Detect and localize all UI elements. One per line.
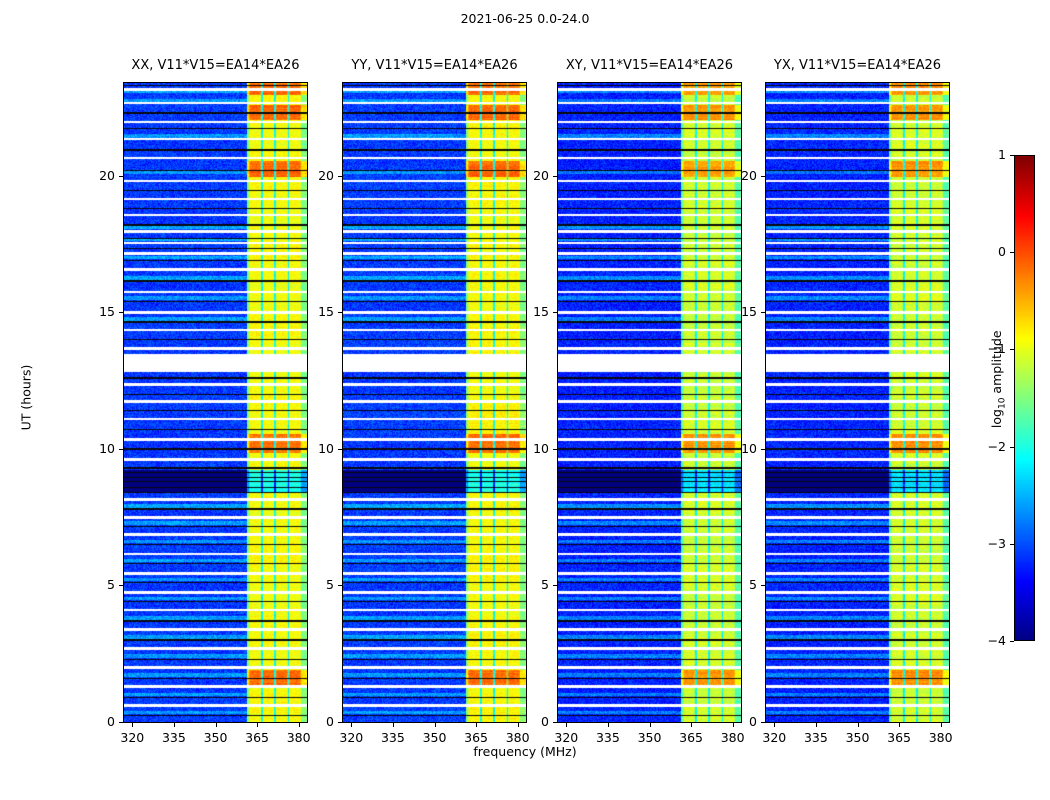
colorbar-label-text: log10 amplitude [989, 330, 1004, 428]
x-tickmark [691, 723, 692, 727]
x-tickmark [608, 723, 609, 727]
y-tickmark [761, 585, 765, 586]
y-tick-label: 15 [511, 304, 549, 319]
x-tickmark [650, 723, 651, 727]
y-tick-label: 0 [511, 714, 549, 729]
x-tickmark [174, 723, 175, 727]
x-tickmark [899, 723, 900, 727]
colorbar-tickmark [1010, 155, 1014, 156]
y-tick-label: 5 [77, 577, 115, 592]
colorbar-tickmark [1010, 252, 1014, 253]
waterfall-image-xx [124, 83, 307, 722]
y-tick-label: 0 [719, 714, 757, 729]
x-tick-label: 380 [916, 730, 966, 745]
y-tickmark [338, 585, 342, 586]
x-tickmark [476, 723, 477, 727]
y-tick-label: 10 [719, 441, 757, 456]
y-tick-label: 0 [77, 714, 115, 729]
y-tickmark [553, 312, 557, 313]
y-tickmark [553, 449, 557, 450]
y-tick-label: 10 [77, 441, 115, 456]
y-tick-label: 20 [77, 168, 115, 183]
spectrogram-panel-xy [557, 82, 742, 723]
x-tickmark [216, 723, 217, 727]
x-tickmark [774, 723, 775, 727]
x-tick-label: 380 [493, 730, 543, 745]
y-tick-label: 15 [719, 304, 757, 319]
figure-suptitle: 2021-06-25 0.0-24.0 [0, 11, 1050, 26]
panel-title-xx: XX, V11*V15=EA14*EA26 [93, 58, 338, 73]
spectrogram-panel-yy [342, 82, 527, 723]
y-tickmark [119, 176, 123, 177]
y-tickmark [338, 722, 342, 723]
panel-title-yx: YX, V11*V15=EA14*EA26 [735, 58, 980, 73]
spectrogram-panel-yx [765, 82, 950, 723]
y-tick-label: 0 [296, 714, 334, 729]
panel-title-yy: YY, V11*V15=EA14*EA26 [312, 58, 557, 73]
y-tickmark [119, 585, 123, 586]
x-tickmark [858, 723, 859, 727]
y-tickmark [553, 176, 557, 177]
x-tickmark [941, 723, 942, 727]
colorbar-tickmark [1010, 349, 1014, 350]
colorbar-label: log10 amplitude [989, 309, 1008, 449]
y-tick-label: 5 [719, 577, 757, 592]
colorbar-gradient [1015, 156, 1035, 641]
y-tick-label: 20 [296, 168, 334, 183]
colorbar-tick-label: 1 [966, 147, 1006, 162]
y-tickmark [338, 312, 342, 313]
y-tickmark [553, 722, 557, 723]
colorbar-tick-label: −3 [966, 536, 1006, 551]
x-axis-label: frequency (MHz) [0, 744, 1050, 759]
colorbar [1014, 155, 1035, 641]
x-tickmark [393, 723, 394, 727]
y-axis-label: UT (hours) [19, 328, 34, 468]
y-tick-label: 20 [719, 168, 757, 183]
y-tickmark [553, 585, 557, 586]
waterfall-image-yx [766, 83, 949, 722]
waterfall-image-xy [558, 83, 741, 722]
y-tick-label: 15 [296, 304, 334, 319]
x-tickmark [566, 723, 567, 727]
y-tick-label: 5 [511, 577, 549, 592]
y-tick-label: 20 [511, 168, 549, 183]
y-tickmark [119, 722, 123, 723]
colorbar-tick-label: −4 [966, 633, 1006, 648]
y-tickmark [338, 176, 342, 177]
x-tickmark [351, 723, 352, 727]
y-tickmark [761, 449, 765, 450]
x-tickmark [816, 723, 817, 727]
y-tickmark [761, 176, 765, 177]
y-tick-label: 10 [511, 441, 549, 456]
y-tick-label: 15 [77, 304, 115, 319]
colorbar-tickmark [1010, 447, 1014, 448]
waterfall-image-yy [343, 83, 526, 722]
y-tickmark [119, 312, 123, 313]
y-tickmark [338, 449, 342, 450]
y-tick-label: 5 [296, 577, 334, 592]
y-tickmark [761, 312, 765, 313]
y-tickmark [119, 449, 123, 450]
y-tickmark [761, 722, 765, 723]
x-tickmark [435, 723, 436, 727]
colorbar-tickmark [1010, 641, 1014, 642]
x-tickmark [132, 723, 133, 727]
colorbar-tickmark [1010, 544, 1014, 545]
spectrogram-panel-xx [123, 82, 308, 723]
x-tick-label: 380 [274, 730, 324, 745]
colorbar-tick-label: 0 [966, 244, 1006, 259]
x-tickmark [257, 723, 258, 727]
y-tick-label: 10 [296, 441, 334, 456]
